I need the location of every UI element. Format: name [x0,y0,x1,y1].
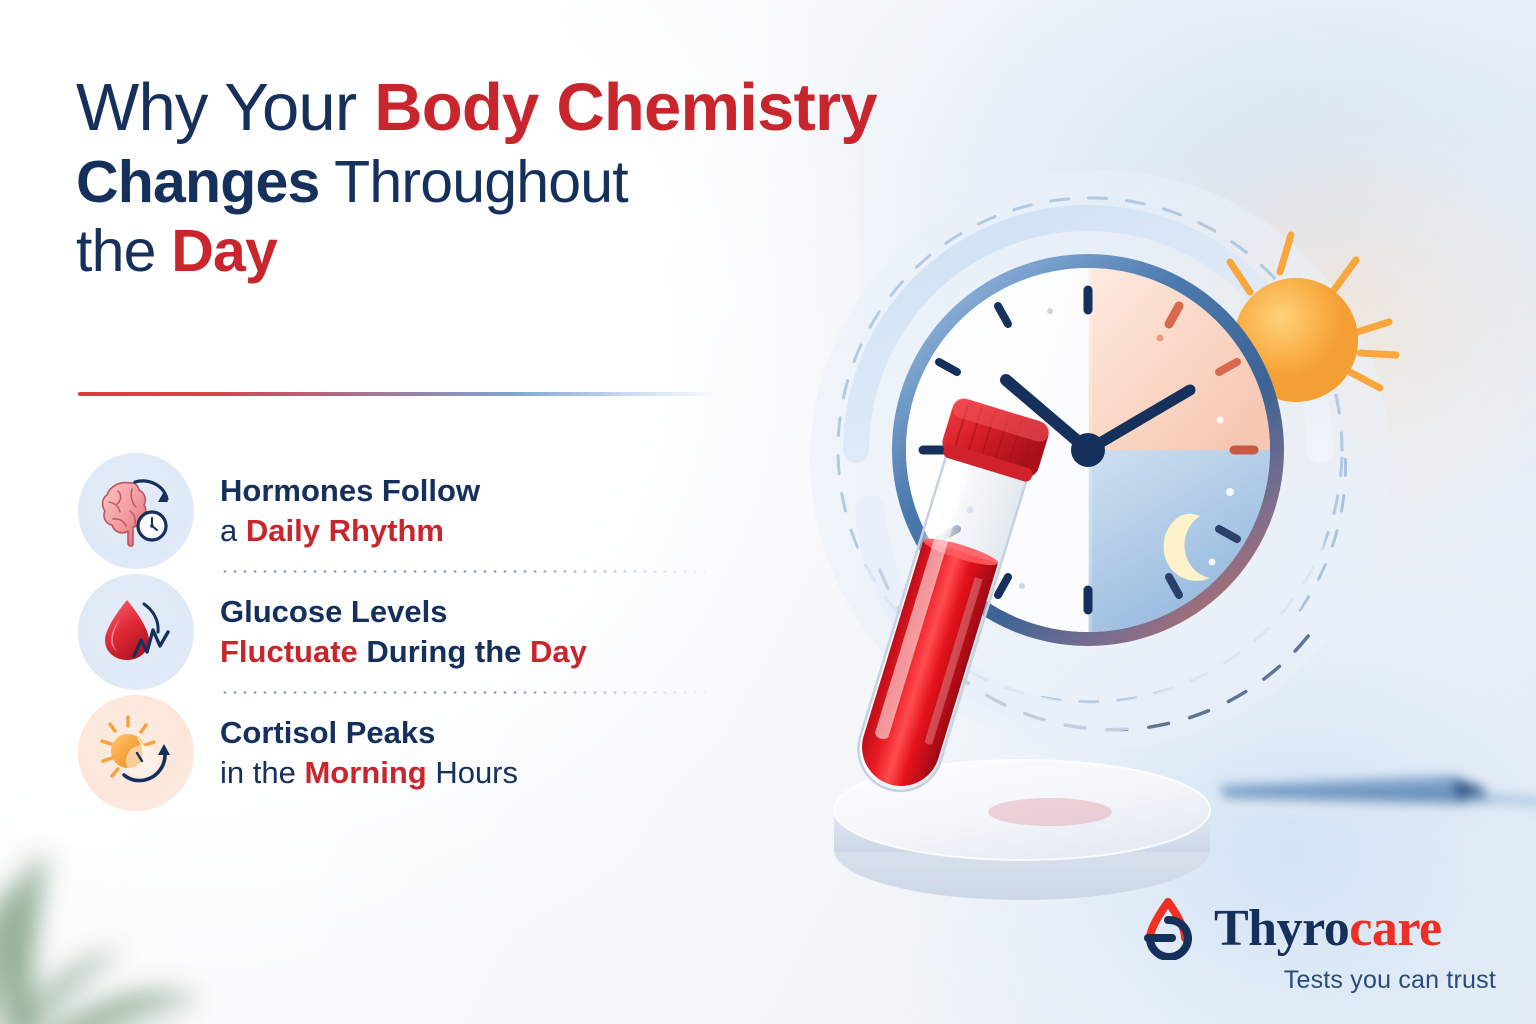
list-item-line-1: Hormones Follow [220,471,480,511]
headline-line-3-plain: the [76,218,171,284]
headline-line-2-bold: Changes [76,149,320,215]
thyrocare-droplet-icon [1138,898,1200,960]
headline-line-1-plain: Why Your [76,70,374,145]
list-item-line-1: Cortisol Peaks [220,713,518,753]
headline-line-3-accent: Day [171,218,277,284]
headline-line-1: Why Your Body Chemistry [76,72,816,143]
logo-wordmark: Thyrocare [1214,903,1442,955]
list-item-line-2-accent: Morning [304,755,426,790]
logo-word-part-1: Thyro [1214,900,1349,957]
logo-row: Thyrocare [1138,898,1500,960]
list-item-line-2-tail: Hours [427,755,518,790]
list-item-line-2: a Daily Rhythm [220,511,480,551]
list-item: Glucose Levels Fluctuate During the Day [78,573,778,691]
list-item-line-2: Fluctuate During the Day [220,632,587,672]
list-item-text: Cortisol Peaks in the Morning Hours [220,713,518,794]
list-item-line-2: in the Morning Hours [220,753,518,793]
page-title: Why Your Body Chemistry Changes Througho… [76,72,816,282]
headline-line-2: Changes Throughout [76,151,816,214]
headline-line-2-plain: Throughout [320,149,628,215]
list-item-line-1: Glucose Levels [220,592,587,632]
headline-line-1-accent: Body Chemistry [374,70,877,145]
list-divider [220,570,728,573]
list-item-line-2-plain: During the [358,634,530,669]
list-item-line-2-accent: Fluctuate [220,634,358,669]
list-item-line-2-accent: Daily Rhythm [246,513,444,548]
brand-logo[interactable]: Thyrocare Tests you can trust [1138,898,1500,994]
clock-and-test-tube-illustration [760,150,1460,940]
logo-word-part-2: care [1349,900,1441,957]
sun-rising-arrow-icon [78,695,194,811]
list-item: Cortisol Peaks in the Morning Hours [78,694,778,812]
title-accent-rule [78,392,718,396]
list-item-line-2-plain: a [220,513,246,548]
brain-clock-icon [78,453,194,569]
list-item: Hormones Follow a Daily Rhythm [78,452,778,570]
blurred-plant-decoration [0,814,260,1024]
blood-drop-waveform-icon [78,574,194,690]
list-item-line-2-plain: in the [220,755,304,790]
logo-tagline: Tests you can trust [1138,966,1500,995]
list-item-line-2-tail: Day [530,634,587,669]
key-points-list: Hormones Follow a Daily Rhythm Glucose L… [78,452,778,812]
list-divider [220,691,728,694]
list-item-text: Glucose Levels Fluctuate During the Day [220,592,587,673]
list-item-text: Hormones Follow a Daily Rhythm [220,471,480,552]
headline-line-3: the Day [76,220,816,283]
